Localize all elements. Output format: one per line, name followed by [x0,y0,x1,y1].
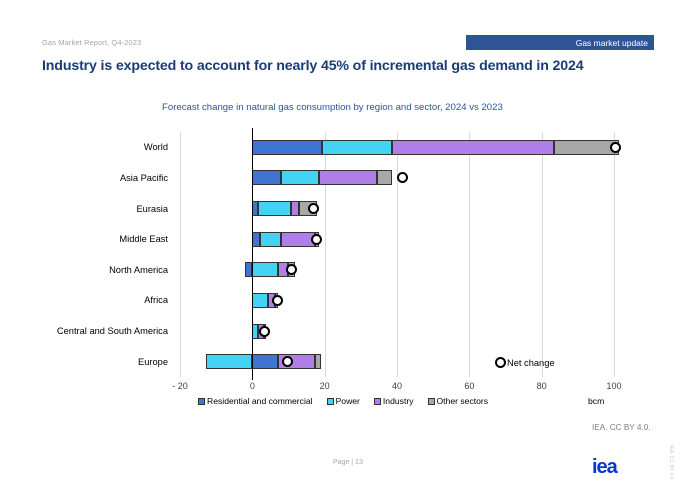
chart-row: Africa [180,285,614,316]
net-change-legend: Net change [495,357,555,368]
legend-item[interactable]: Power [327,396,360,406]
chart-row: Eurasia [180,193,614,224]
net-change-marker [259,326,270,337]
category-label: Europe [138,357,168,367]
gas-market-update-banner: Gas market update [466,35,654,50]
legend-swatch-icon [428,398,435,405]
category-label: Eurasia [136,204,168,214]
legend-item[interactable]: Industry [374,396,414,406]
net-change-marker [282,356,293,367]
iea-logo: iea [592,457,617,477]
bar-segment [252,354,277,369]
bar-segment [315,354,321,369]
legend-label: Other sectors [437,396,489,406]
legend-swatch-icon [327,398,334,405]
bar-segment [260,232,281,247]
bar-segment [281,170,319,185]
legend-item[interactable]: Residential and commercial [198,396,313,406]
net-change-marker [610,142,621,153]
bar-segment [252,232,260,247]
bar-segment [322,140,391,155]
bar-segment [252,262,277,277]
x-axis-tick-label: 80 [537,381,547,391]
bar-segment [258,201,291,216]
bar-segment [291,201,299,216]
category-label: World [144,142,168,152]
chart-row: Central and South America [180,316,614,347]
chart-row: Asia Pacific [180,163,614,194]
x-axis-tick-label: 100 [606,381,621,391]
page-number: Page | 13 [333,459,363,466]
x-axis-tick-label: 60 [464,381,474,391]
report-tag: Gas Market Report, Q4-2023 [42,38,141,47]
page-title: Industry is expected to account for near… [42,58,584,74]
plot-area: - 20020406080100WorldAsia PacificEurasia… [180,132,614,377]
net-change-marker [272,295,283,306]
chart-container: - 20020406080100WorldAsia PacificEurasia… [0,125,700,415]
license-credit: IEA. CC BY 4.0. [592,423,651,432]
chart-subtitle: Forecast change in natural gas consumpti… [162,102,503,113]
bar-segment [319,170,378,185]
category-label: Asia Pacific [120,173,168,183]
x-axis-tick-label: - 20 [172,381,188,391]
net-change-marker [311,234,322,245]
net-change-legend-label: Net change [507,358,555,368]
bar-segment [377,170,391,185]
x-axis-tick-label: 0 [250,381,255,391]
net-change-marker-icon [495,357,506,368]
bar-segment [252,140,322,155]
bar-segment [281,232,315,247]
legend-label: Residential and commercial [207,396,313,406]
legend-label: Industry [383,396,414,406]
legend-item[interactable]: Other sectors [428,396,489,406]
bar-segment [252,170,281,185]
x-axis-tick-label: 20 [320,381,330,391]
category-label: North America [109,265,168,275]
unit-label: bcm [588,396,604,406]
chart-row: Middle East [180,224,614,255]
bar-segment [206,354,252,369]
side-license-credit: IEA. CC BY 4.0. [668,445,674,481]
zero-axis-line [252,128,253,380]
chart-row: North America [180,255,614,286]
series-legend: Residential and commercialPowerIndustryO… [198,396,502,406]
net-change-marker [308,203,319,214]
bar-segment [252,293,267,308]
net-change-marker [397,172,408,183]
chart-row: World [180,132,614,163]
legend-swatch-icon [374,398,381,405]
bar-segment [554,140,619,155]
category-label: Middle East [119,234,168,244]
legend-swatch-icon [198,398,205,405]
banner-label: Gas market update [576,38,648,48]
gridline [614,132,615,377]
bar-segment [245,262,252,277]
category-label: Central and South America [57,326,168,336]
legend-label: Power [336,396,360,406]
x-axis-tick-label: 40 [392,381,402,391]
net-change-marker [286,264,297,275]
bar-segment [392,140,554,155]
category-label: Africa [144,295,168,305]
